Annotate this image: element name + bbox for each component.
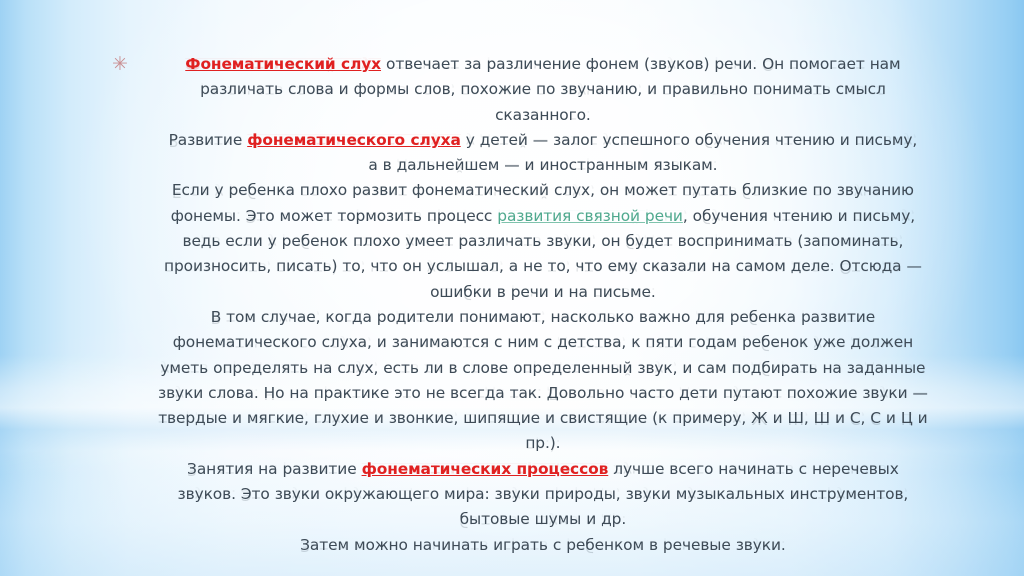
text-line: Занятия на развитие фонематических проце… — [158, 457, 928, 482]
text-run: твердые и мягкие, глухие и звонкие, шипя… — [158, 409, 927, 427]
text-line: ведь если у ребенок плохо умеет различат… — [158, 229, 928, 254]
text-run: В том случае, когда родители понимают, н… — [211, 308, 875, 326]
text-run: ошибки в речи и на письме. — [430, 283, 656, 301]
asterisk-bullet-icon: ✳ — [112, 52, 158, 76]
text-run: уметь определять на слух, есть ли в слов… — [160, 359, 925, 377]
text-run: у детей — залог успешного обучения чтени… — [461, 131, 917, 149]
slide-canvas: ✳ Фонематический слух отвечает за различ… — [0, 0, 1024, 576]
text-run: различать слова и формы слов, похожие по… — [200, 80, 886, 98]
text-run: Если у ребенка плохо развит фонематическ… — [172, 181, 914, 199]
text-line-content: твердые и мягкие, глухие и звонкие, шипя… — [158, 406, 928, 431]
text-line-content: пр.). — [158, 431, 928, 456]
text-line-content: звуки слова. Но на практике это не всегд… — [158, 381, 928, 406]
content-placeholder: ✳ Фонематический слух отвечает за различ… — [112, 52, 912, 558]
text-line: Затем можно начинать играть с ребенком в… — [158, 533, 928, 558]
text-run: произносить, писать) то, что он услышал,… — [164, 257, 922, 275]
text-run: звуков. Это звуки окружающего мира: звук… — [178, 485, 909, 503]
text-line-content: звуков. Это звуки окружающего мира: звук… — [158, 482, 928, 507]
text-line-content: произносить, писать) то, что он услышал,… — [158, 254, 928, 279]
text-line: ошибки в речи и на письме.ошибки в речи … — [158, 280, 928, 305]
text-line: фонемы. Это может тормозить процесс разв… — [158, 204, 928, 229]
text-line: а в дальнейшем — и иностранным языкам.а … — [158, 153, 928, 178]
text-line: Фонематический слух отвечает за различен… — [158, 52, 928, 77]
text-line: пр.).пр.). — [158, 431, 928, 456]
text-run: сказанного. — [495, 106, 591, 124]
text-line-content: бытовые шумы и др. — [158, 507, 928, 532]
text-line-content: В том случае, когда родители понимают, н… — [158, 305, 928, 330]
text-line: различать слова и формы слов, похожие по… — [158, 77, 928, 102]
text-line-content: Если у ребенка плохо развит фонематическ… — [158, 178, 928, 203]
emphasized-term: Фонематический слух — [185, 55, 381, 73]
text-line-content: фонемы. Это может тормозить процесс разв… — [158, 204, 928, 229]
text-line-content: Затем можно начинать играть с ребенком в… — [158, 533, 928, 558]
text-line: уметь определять на слух, есть ли в слов… — [158, 356, 928, 381]
text-run: звуки слова. Но на практике это не всегд… — [158, 384, 928, 402]
text-line-content: различать слова и формы слов, похожие по… — [158, 77, 928, 102]
text-line-content: Фонематический слух отвечает за различен… — [158, 52, 928, 77]
text-line: бытовые шумы и др.бытовые шумы и др. — [158, 507, 928, 532]
text-line: фонематического слуха, и занимаются с ни… — [158, 330, 928, 355]
slide-body-text: Фонематический слух отвечает за различен… — [158, 52, 928, 558]
text-line-content: фонематического слуха, и занимаются с ни… — [158, 330, 928, 355]
text-line-content: сказанного. — [158, 103, 928, 128]
text-line: В том случае, когда родители понимают, н… — [158, 305, 928, 330]
text-line: звуки слова. Но на практике это не всегд… — [158, 381, 928, 406]
text-line-content: Развитие фонематического слуха у детей —… — [158, 128, 928, 153]
hyperlink-text[interactable]: развития связной речи — [497, 207, 683, 225]
text-line-content: Занятия на развитие фонематических проце… — [158, 457, 928, 482]
text-run: а в дальнейшем — и иностранным языкам. — [368, 156, 717, 174]
text-run: фонемы. Это может тормозить процесс — [171, 207, 498, 225]
text-run: бытовые шумы и др. — [460, 510, 626, 528]
text-run: Занятия на развитие — [187, 460, 362, 478]
text-run: фонематического слуха, и занимаются с ни… — [173, 333, 913, 351]
text-run: ведь если у ребенок плохо умеет различат… — [182, 232, 903, 250]
text-run: лучше всего начинать с неречевых — [608, 460, 899, 478]
text-run: Развитие — [169, 131, 248, 149]
text-line: Если у ребенка плохо развит фонематическ… — [158, 178, 928, 203]
text-line: звуков. Это звуки окружающего мира: звук… — [158, 482, 928, 507]
text-line: произносить, писать) то, что он услышал,… — [158, 254, 928, 279]
text-run: отвечает за различение фонем (звуков) ре… — [381, 55, 900, 73]
text-run: Затем можно начинать играть с ребенком в… — [300, 536, 786, 554]
text-line: Развитие фонематического слуха у детей —… — [158, 128, 928, 153]
text-line-content: ведь если у ребенок плохо умеет различат… — [158, 229, 928, 254]
text-run: , обучения чтению и письму, — [683, 207, 915, 225]
bullet-paragraph: ✳ Фонематический слух отвечает за различ… — [112, 52, 912, 558]
text-line-content: уметь определять на слух, есть ли в слов… — [158, 356, 928, 381]
text-line: твердые и мягкие, глухие и звонкие, шипя… — [158, 406, 928, 431]
text-run: пр.). — [525, 434, 560, 452]
text-line-content: ошибки в речи и на письме. — [158, 280, 928, 305]
text-line: сказанного.сказанного. — [158, 103, 928, 128]
text-line-content: а в дальнейшем — и иностранным языкам. — [158, 153, 928, 178]
emphasized-term: фонематических процессов — [362, 460, 609, 478]
emphasized-term: фонематического слуха — [247, 131, 461, 149]
